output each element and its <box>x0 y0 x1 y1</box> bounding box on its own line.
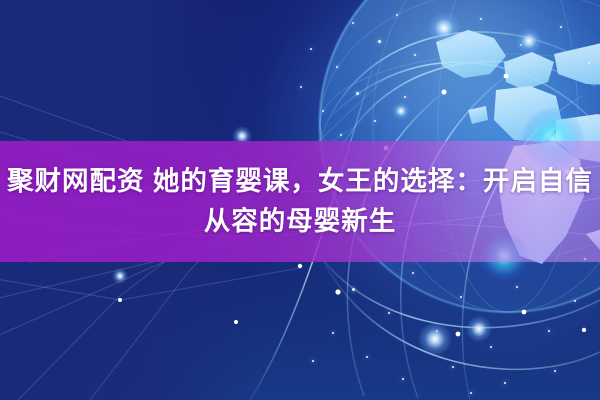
title-line-1: 聚财网配资 她的育婴课，女王的选择：开启自信 <box>7 164 593 200</box>
glow-flare <box>418 322 452 356</box>
title-line-2: 从容的母婴新生 <box>204 204 397 240</box>
glow-flare <box>516 28 542 54</box>
glow-flare <box>112 268 128 284</box>
banner-title: 聚财网配资 她的育婴课，女王的选择：开启自信 从容的母婴新生 <box>0 141 600 262</box>
glow-flare <box>466 316 492 342</box>
banner-image: 聚财网配资 她的育婴课，女王的选择：开启自信 从容的母婴新生 <box>0 0 600 400</box>
glow-flare <box>428 12 460 44</box>
glow-flare <box>392 102 410 120</box>
